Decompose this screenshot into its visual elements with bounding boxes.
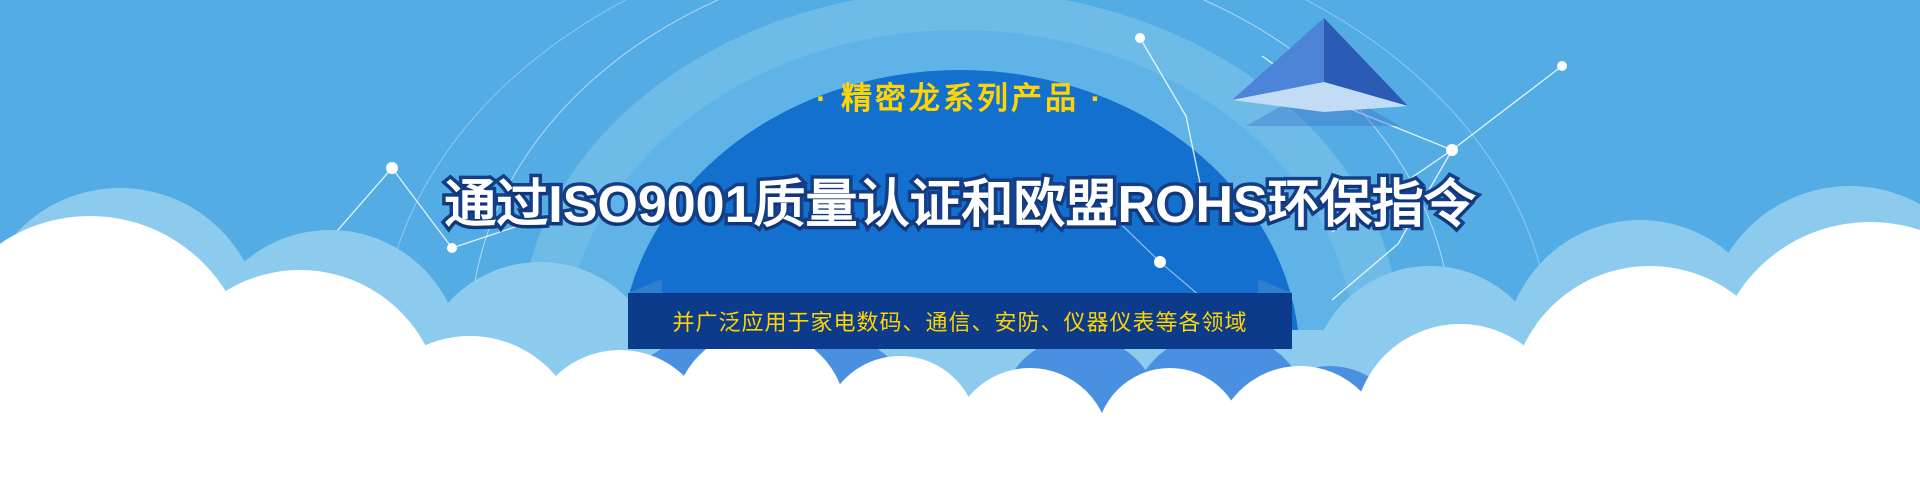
banner-content: · 精密龙系列产品 · 通过ISO9001质量认证和欧盟ROHS环保指令 并广泛…: [0, 0, 1920, 480]
ribbon-fold-left-icon: [628, 279, 662, 293]
ribbon-fold-right-icon: [1258, 279, 1292, 293]
banner-ribbon-text: 并广泛应用于家电数码、通信、安防、仪器仪表等各领域: [672, 305, 1247, 337]
promo-banner: · 精密龙系列产品 · 通过ISO9001质量认证和欧盟ROHS环保指令 并广泛…: [0, 0, 1920, 480]
banner-headline: 通过ISO9001质量认证和欧盟ROHS环保指令: [0, 176, 1920, 236]
banner-ribbon: 并广泛应用于家电数码、通信、安防、仪器仪表等各领域: [628, 293, 1292, 349]
banner-eyebrow: · 精密龙系列产品 ·: [0, 80, 1920, 117]
banner-ribbon-wrap: 并广泛应用于家电数码、通信、安防、仪器仪表等各领域: [0, 293, 1920, 349]
